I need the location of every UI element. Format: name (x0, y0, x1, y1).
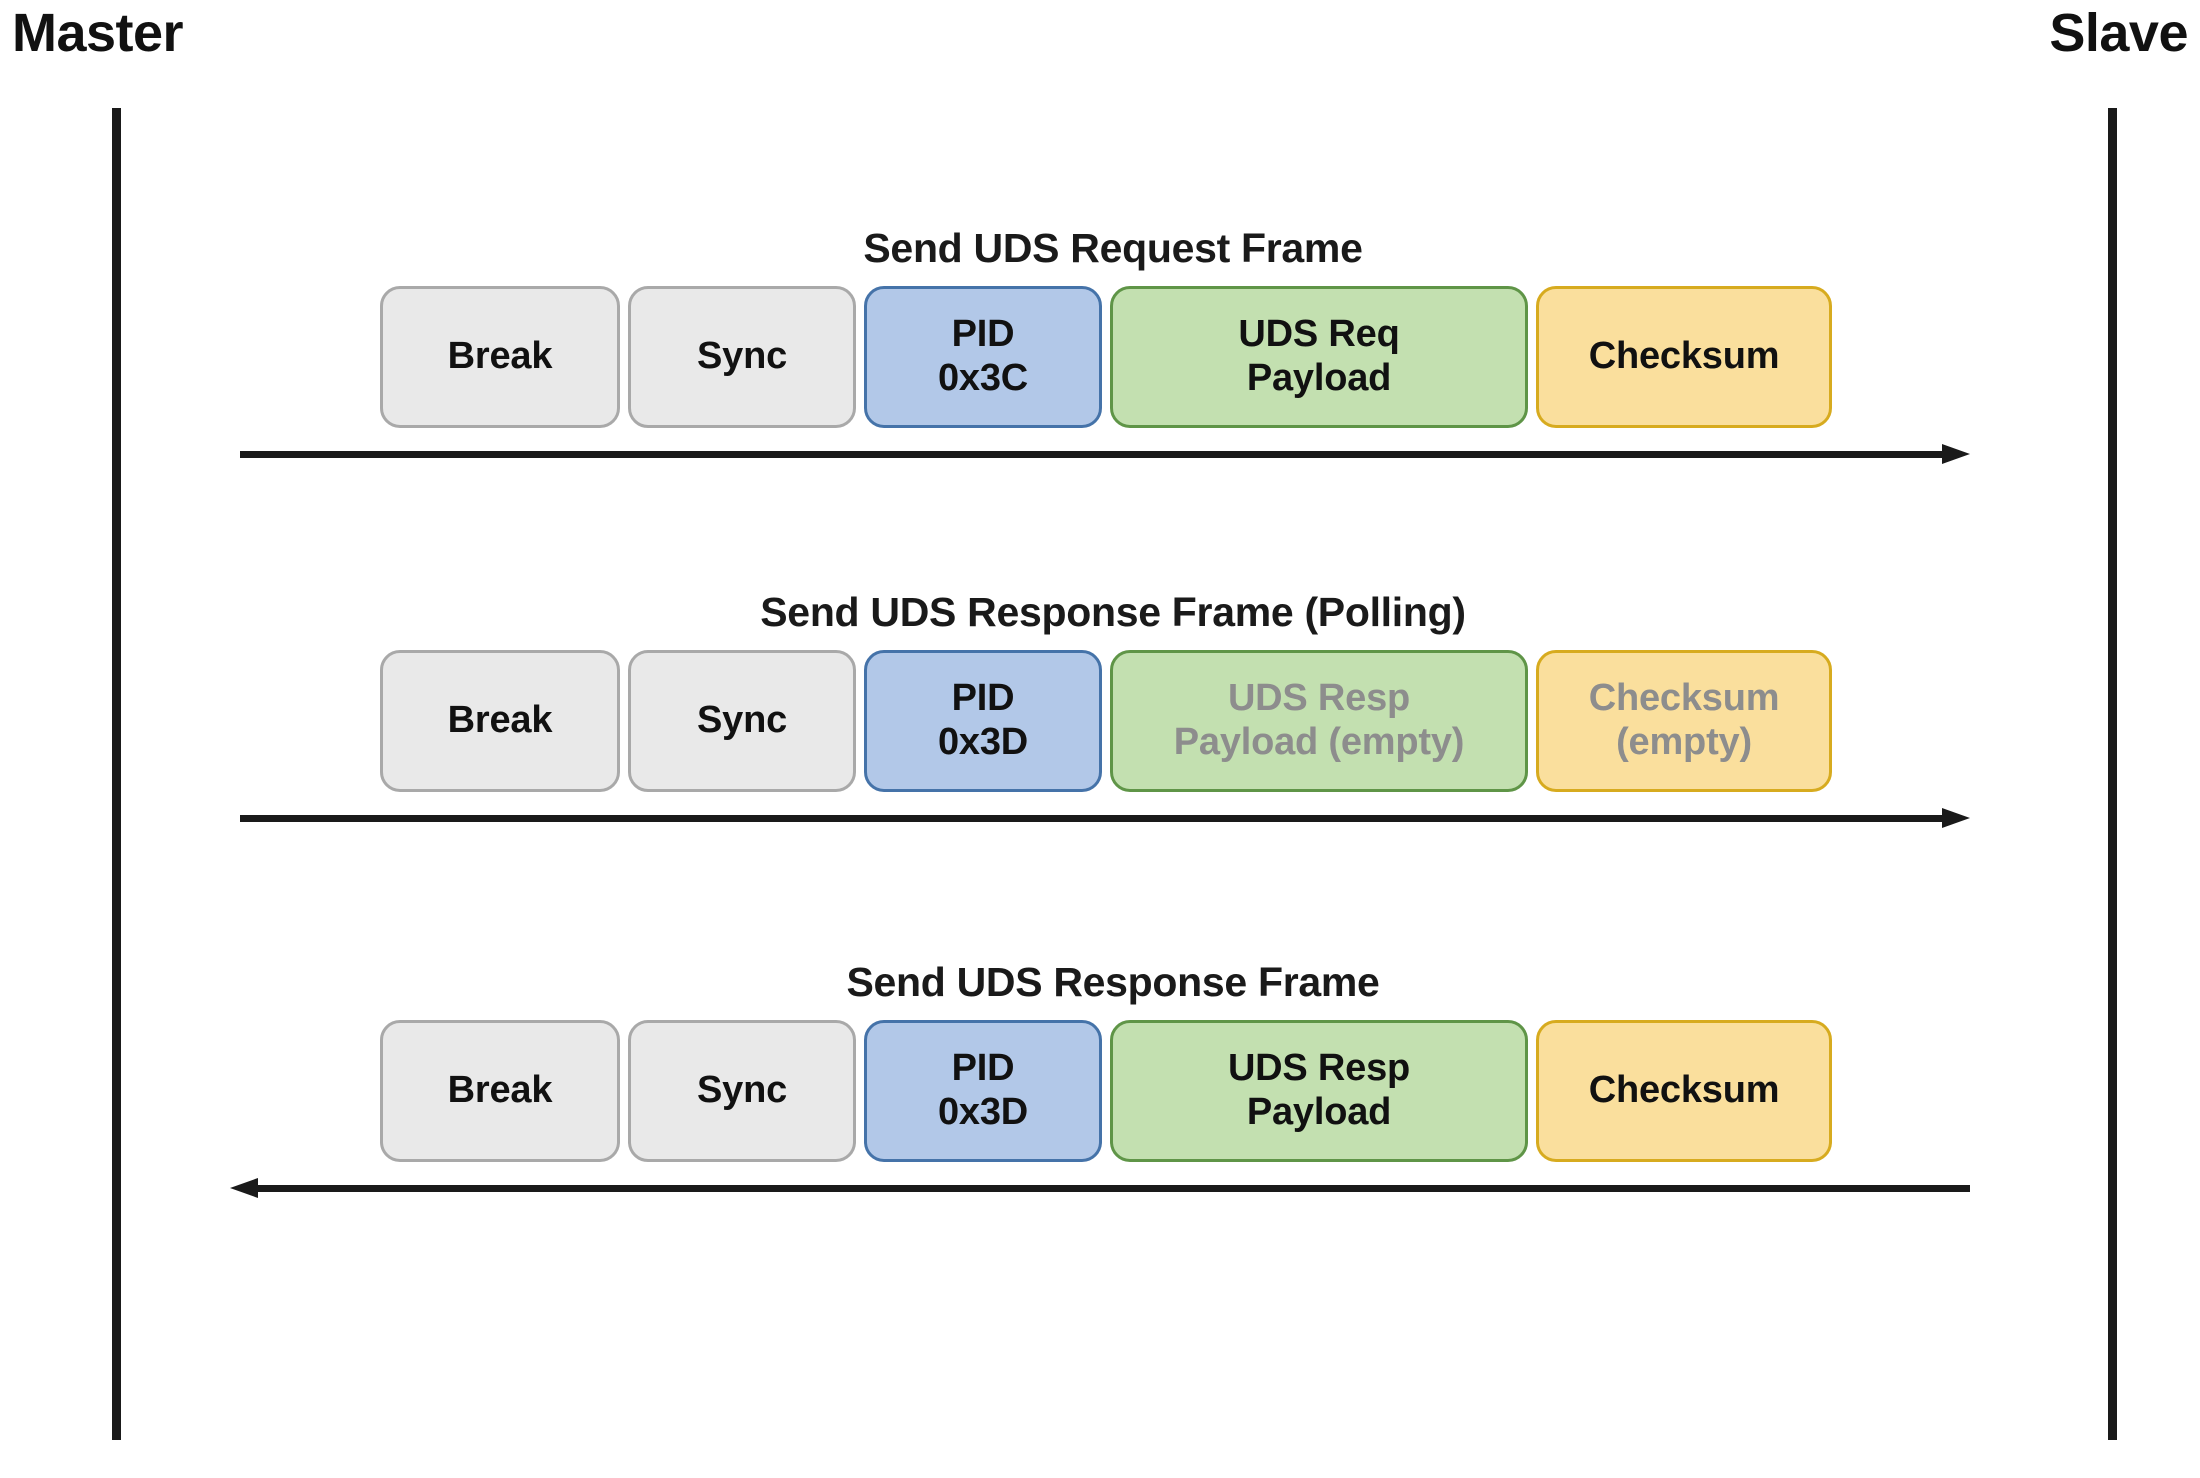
arrow-shaft (240, 815, 1950, 822)
lifeline-master (112, 108, 121, 1440)
frame-field-payload[interactable]: UDS Resp Payload (1110, 1020, 1528, 1162)
frame-field-sync[interactable]: Sync (628, 1020, 856, 1162)
message-title: Send UDS Request Frame (380, 228, 1846, 269)
frame-field-break[interactable]: Break (380, 1020, 620, 1162)
message-title: Send UDS Response Frame (Polling) (380, 592, 1846, 633)
arrow-shaft (240, 451, 1950, 458)
frame-field-sync[interactable]: Sync (628, 650, 856, 792)
frame-field-group: Break Sync PID 0x3D UDS Resp Payload (em… (380, 650, 1832, 792)
frame-field-label-line1: UDS Resp (1228, 677, 1410, 721)
actor-label-slave: Slave (2049, 6, 2188, 60)
frame-field-label-line2: Payload (1247, 1091, 1391, 1135)
message-arrow-left (230, 1178, 1970, 1198)
frame-field-label-line2: 0x3D (938, 721, 1028, 765)
frame-field-label-line1: Sync (697, 1069, 787, 1113)
frame-field-label-line2: 0x3D (938, 1091, 1028, 1135)
frame-field-checksum[interactable]: Checksum (empty) (1536, 650, 1832, 792)
frame-field-payload[interactable]: UDS Resp Payload (empty) (1110, 650, 1528, 792)
frame-field-checksum[interactable]: Checksum (1536, 286, 1832, 428)
frame-field-label-line1: Checksum (1589, 335, 1780, 379)
frame-field-label-line1: Break (448, 335, 553, 379)
frame-field-label-line1: Checksum (1589, 677, 1780, 721)
arrow-shaft (250, 1185, 1970, 1192)
message-arrow-right (240, 808, 1970, 828)
frame-field-label-line1: Break (448, 699, 553, 743)
frame-field-pid[interactable]: PID 0x3C (864, 286, 1102, 428)
actor-label-master: Master (12, 6, 183, 60)
message-arrow-right (240, 444, 1970, 464)
lifeline-slave (2108, 108, 2117, 1440)
frame-field-checksum[interactable]: Checksum (1536, 1020, 1832, 1162)
frame-field-break[interactable]: Break (380, 650, 620, 792)
frame-field-label-line1: Break (448, 1069, 553, 1113)
frame-field-sync[interactable]: Sync (628, 286, 856, 428)
frame-field-label-line1: PID (952, 677, 1015, 721)
frame-field-group: Break Sync PID 0x3C UDS Req Payload Chec… (380, 286, 1832, 428)
arrow-head-icon (1942, 444, 1970, 464)
message-title: Send UDS Response Frame (380, 962, 1846, 1003)
frame-field-label-line1: PID (952, 313, 1015, 357)
sequence-diagram-canvas: Master Slave Send UDS Request Frame Brea… (0, 0, 2200, 1478)
arrow-head-icon (230, 1178, 258, 1198)
frame-field-label-line1: Sync (697, 335, 787, 379)
frame-field-label-line2: 0x3C (938, 357, 1028, 401)
frame-field-label-line1: PID (952, 1047, 1015, 1091)
frame-field-label-line1: Checksum (1589, 1069, 1780, 1113)
arrow-head-icon (1942, 808, 1970, 828)
frame-field-payload[interactable]: UDS Req Payload (1110, 286, 1528, 428)
frame-field-pid[interactable]: PID 0x3D (864, 650, 1102, 792)
frame-field-label-line2: (empty) (1616, 721, 1752, 765)
frame-field-break[interactable]: Break (380, 286, 620, 428)
frame-field-label-line1: UDS Resp (1228, 1047, 1410, 1091)
frame-field-label-line1: UDS Req (1238, 313, 1399, 357)
frame-field-label-line2: Payload (empty) (1174, 721, 1465, 765)
frame-field-label-line1: Sync (697, 699, 787, 743)
frame-field-group: Break Sync PID 0x3D UDS Resp Payload Che… (380, 1020, 1832, 1162)
frame-field-label-line2: Payload (1247, 357, 1391, 401)
frame-field-pid[interactable]: PID 0x3D (864, 1020, 1102, 1162)
